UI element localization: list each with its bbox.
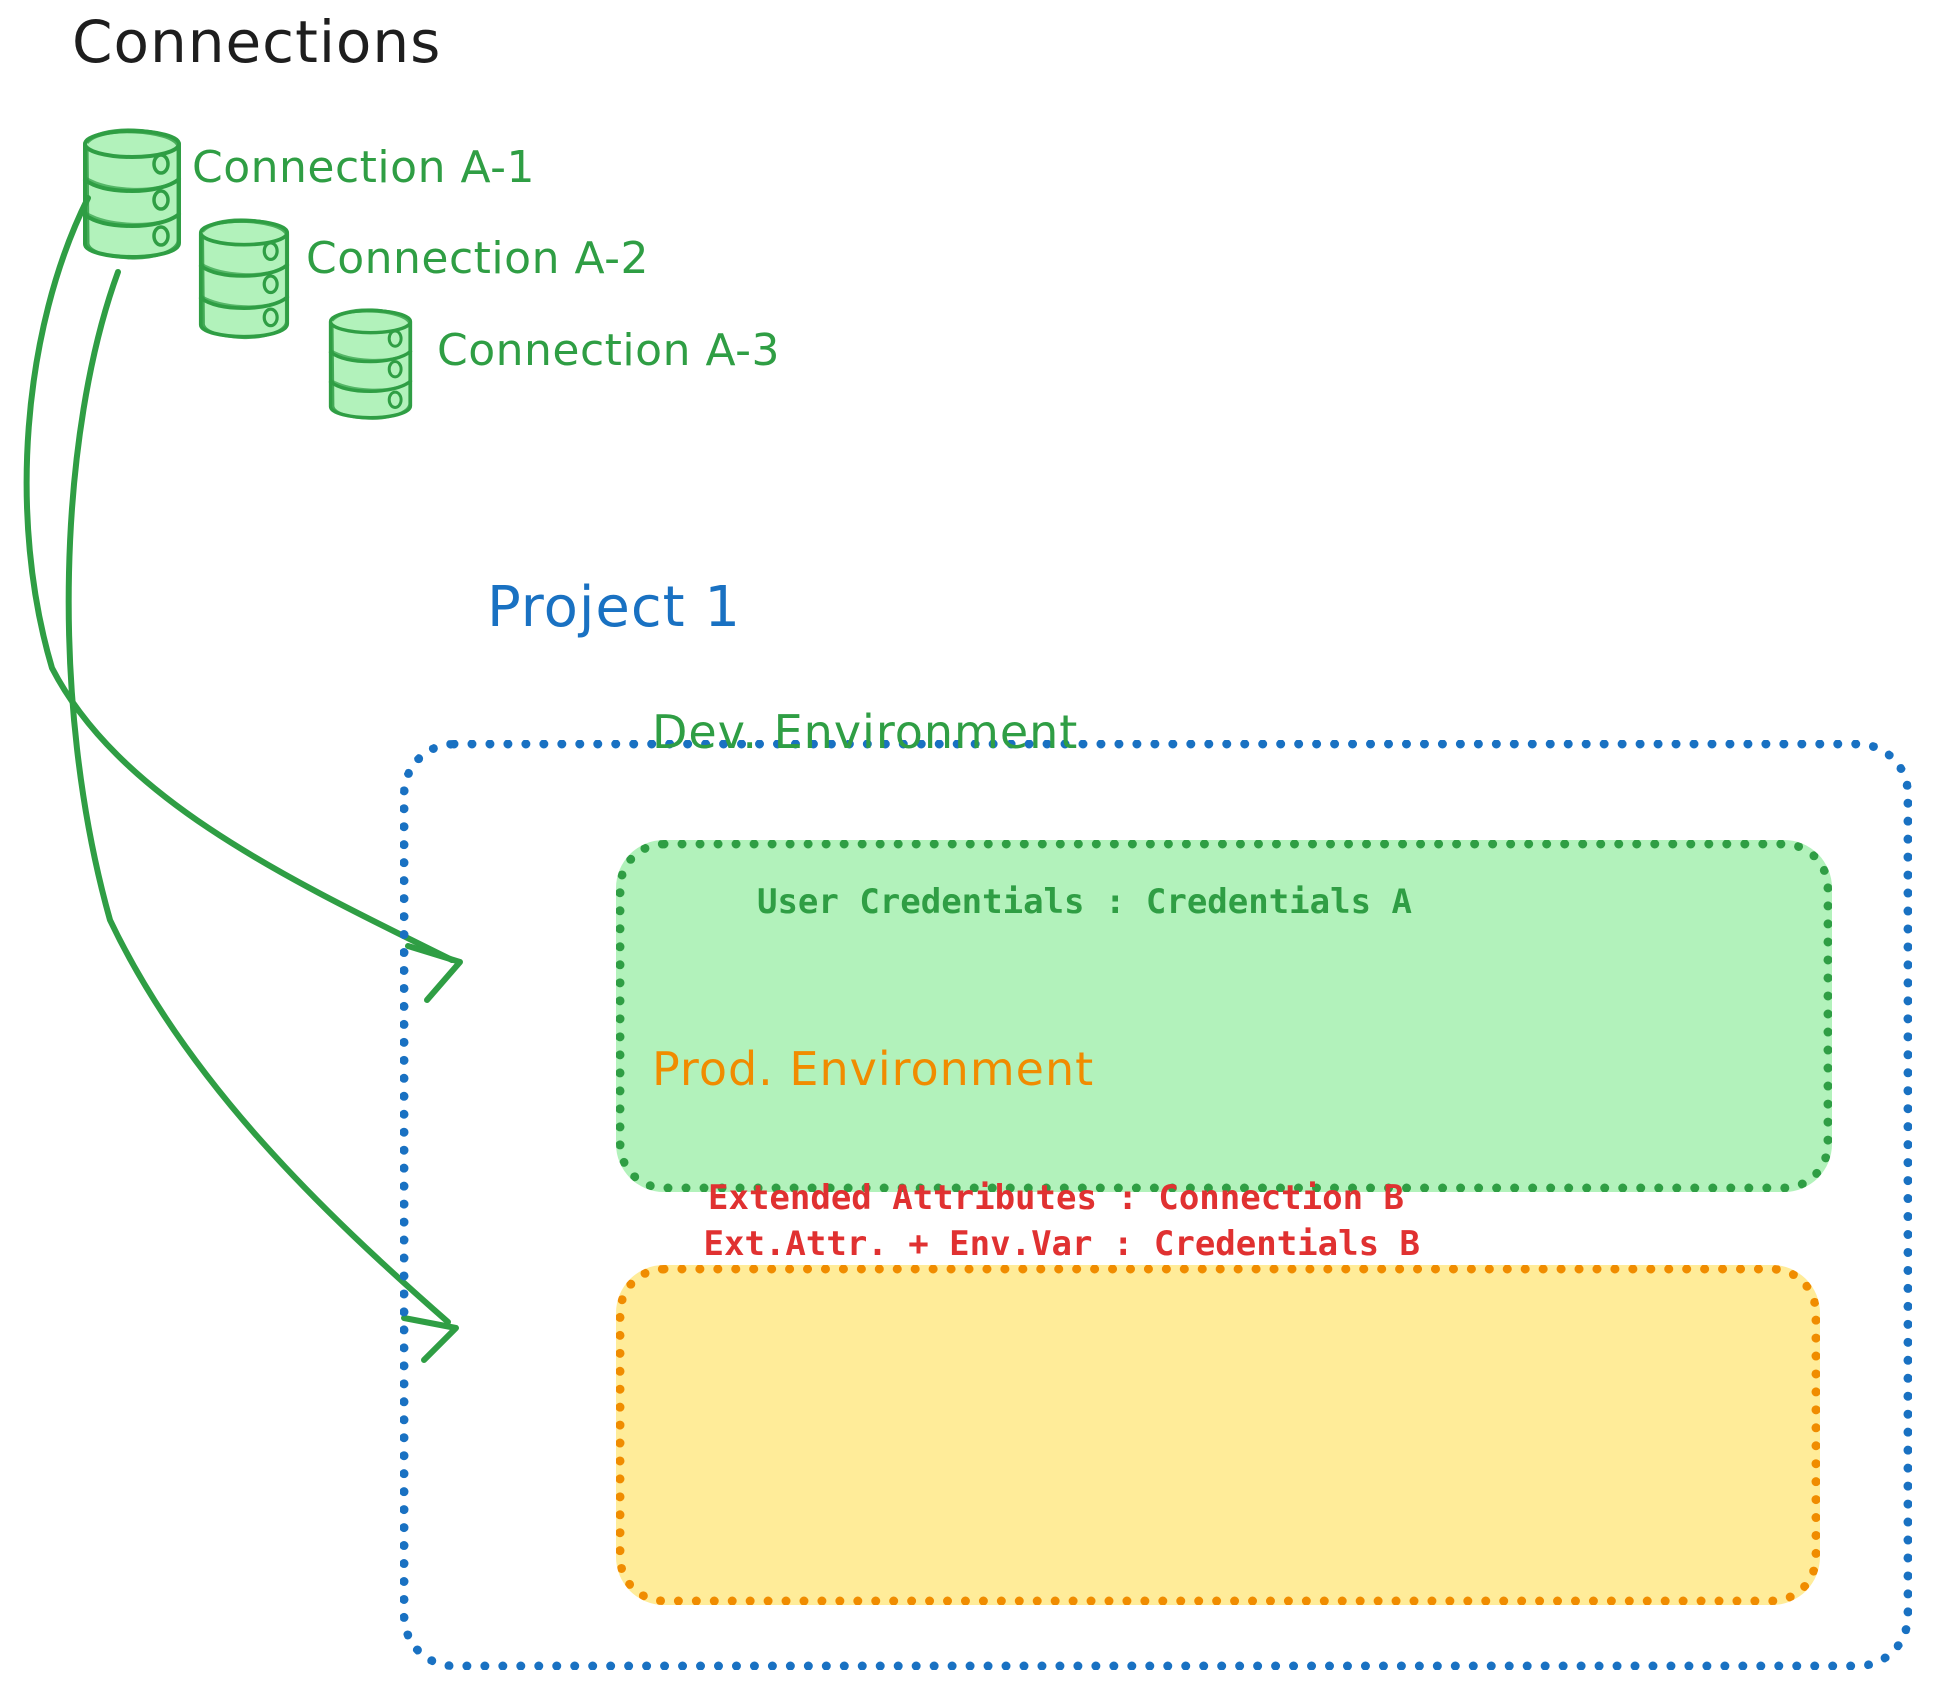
prod-env-var-row: Ext.Attr. + Env.Var : Credentials B [704, 1224, 1420, 1264]
project-title: Project 1 [487, 575, 741, 640]
dev-credentials-row: User Credentials : Credentials A [757, 882, 1412, 922]
database-cylinder-icon-a2[interactable] [200, 220, 288, 338]
prod-environment-container[interactable] [616, 1265, 1820, 1605]
database-cylinder-icon-a3[interactable] [330, 310, 412, 419]
prod-environment-title: Prod. Environment [652, 1042, 1094, 1096]
arrow-to-prod [69, 272, 448, 1322]
connection-label-a3: Connection A-3 [437, 325, 780, 376]
page-title: Connections [72, 8, 441, 76]
prod-extended-attributes-row: Extended Attributes : Connection B [708, 1178, 1404, 1218]
dev-environment-title: Dev. Environment [652, 705, 1078, 759]
connection-label-a2: Connection A-2 [306, 233, 649, 284]
database-cylinder-icon-a1[interactable] [84, 130, 180, 258]
connection-label-a1: Connection A-1 [192, 142, 535, 193]
